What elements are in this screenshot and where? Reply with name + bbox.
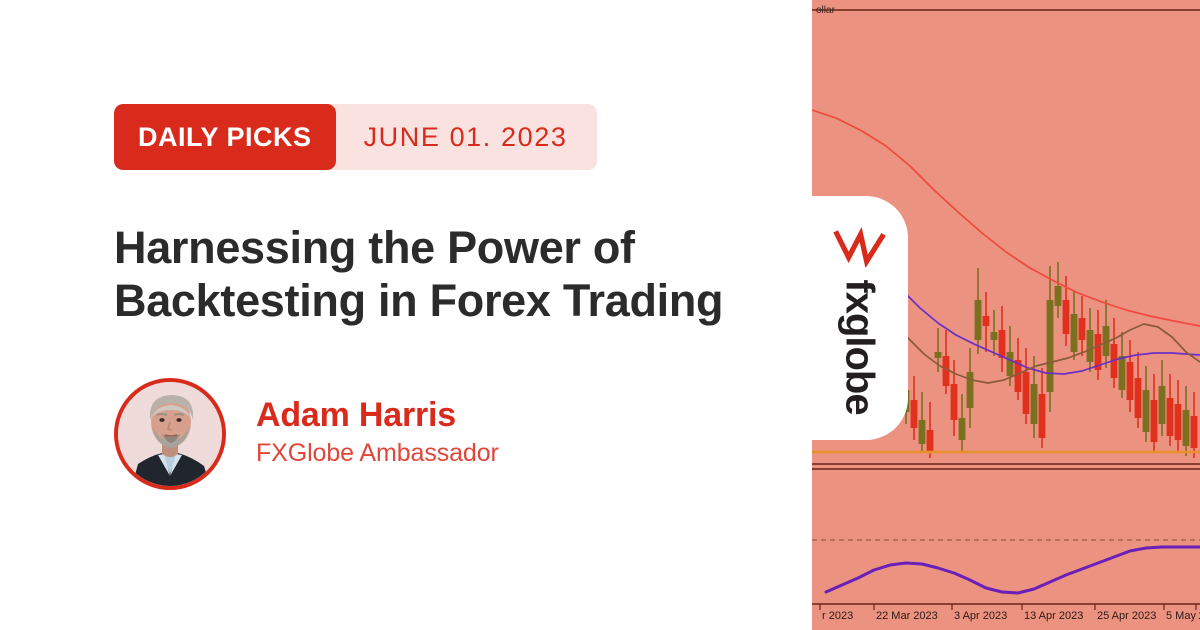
article-card: DAILY PICKS JUNE 01. 2023 Harnessing the… [0, 0, 812, 630]
daily-picks-badge: DAILY PICKS JUNE 01. 2023 [114, 104, 597, 170]
x-axis-tick-label: 25 Apr 2023 [1097, 610, 1156, 622]
chart-title: ollar [816, 5, 835, 16]
badge-tag-label: DAILY PICKS [114, 104, 336, 170]
x-axis-tick-label: 5 May 2023 [1166, 610, 1200, 622]
author-text: Adam Harris FXGlobe Ambassador [256, 396, 499, 473]
fxglobe-logo-card: fxglobe [812, 196, 908, 440]
chart-x-axis: r 202322 Mar 20233 Apr 202313 Apr 202325… [812, 610, 1200, 626]
badge-date-label: JUNE 01. 2023 [336, 104, 598, 170]
avatar-portrait-icon [118, 382, 222, 486]
author-role: FXGlobe Ambassador [256, 435, 499, 473]
fxglobe-wordmark: fxglobe [840, 279, 880, 414]
x-axis-tick-label: 22 Mar 2023 [876, 610, 938, 622]
author-block: Adam Harris FXGlobe Ambassador [114, 378, 499, 490]
x-axis-tick-label: 13 Apr 2023 [1024, 610, 1083, 622]
fxglobe-mark-icon [833, 221, 887, 267]
avatar [114, 378, 226, 490]
author-name: Adam Harris [256, 396, 499, 435]
page-title: Harnessing the Power of Backtesting in F… [114, 222, 774, 327]
x-axis-tick-label: 3 Apr 2023 [954, 610, 1007, 622]
x-axis-tick-label: r 2023 [822, 610, 853, 622]
